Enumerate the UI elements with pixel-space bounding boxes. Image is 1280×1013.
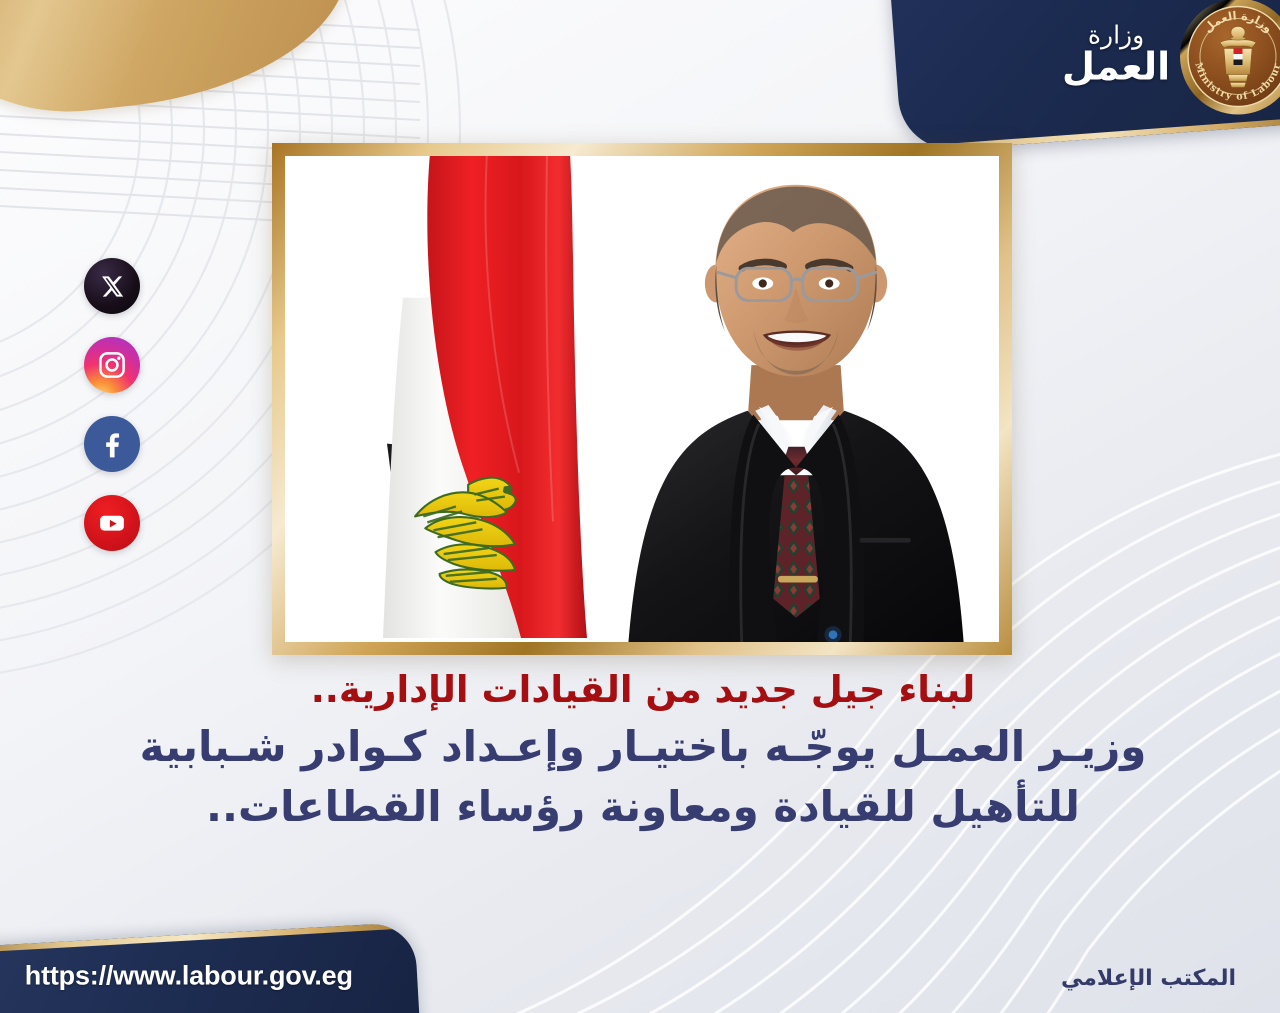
social-links-rail[interactable]: [84, 258, 140, 551]
ministry-wordmark: وزارة العمل: [1062, 22, 1170, 90]
instagram-glyph: [96, 349, 128, 381]
x-twitter-icon[interactable]: [84, 258, 140, 314]
website-url-label[interactable]: https://www.labour.gov.eg: [25, 961, 353, 992]
media-office-credit: المكتب الإعلامي: [1061, 966, 1236, 991]
headline-main-line-2: للتأهيل للقيادة ومعاونة رؤساء القطاعات..: [40, 779, 1246, 835]
date-badge: 2025/12/7: [0, 0, 360, 127]
press-card-poster: 2025/12/7 وزارة العمل: [0, 0, 1280, 1013]
facebook-glyph: [97, 429, 128, 460]
headline-main-line-1: وزيـر العمـل يوجّـه باختيـار وإعـداد كـو…: [40, 719, 1246, 775]
ministry-of-labour-seal-icon: وزارة العمل Ministry of Labour: [1178, 0, 1280, 117]
facebook-icon[interactable]: [84, 416, 140, 472]
x-glyph: [99, 273, 126, 300]
egyptian-flag-icon: [369, 156, 601, 638]
portrait-photo: [285, 156, 999, 642]
website-url-bar[interactable]: https://www.labour.gov.eg: [0, 922, 421, 1013]
wordmark-line-2: العمل: [1062, 48, 1170, 87]
youtube-glyph: [96, 507, 128, 539]
ministry-logo-plate: وزارة العمل: [887, 0, 1280, 153]
headline-block: لبناء جيل جديد من القيادات الإدارية.. وز…: [40, 666, 1246, 835]
youtube-icon[interactable]: [84, 495, 140, 551]
minister-portrait-figure: [581, 162, 999, 642]
instagram-icon[interactable]: [84, 337, 140, 393]
headline-kicker: لبناء جيل جديد من القيادات الإدارية..: [40, 666, 1246, 715]
portrait-photo-frame: [272, 143, 1012, 655]
